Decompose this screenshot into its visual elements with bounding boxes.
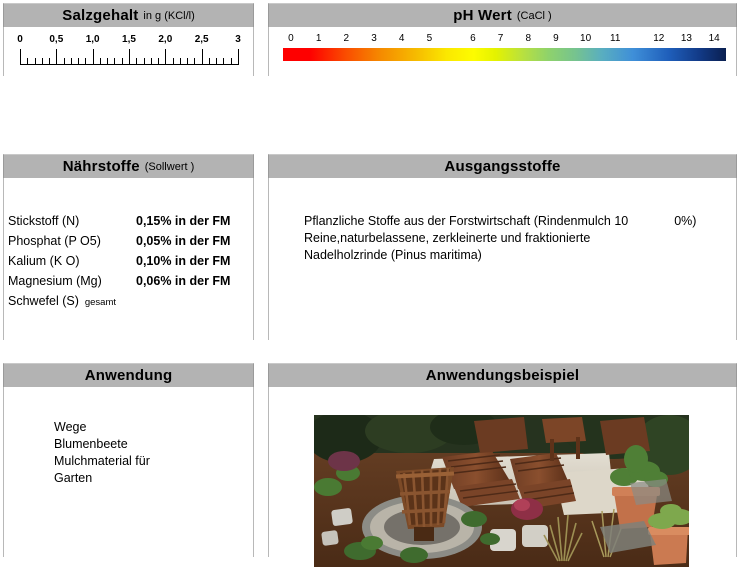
ph-tick-label-12: 12 — [653, 33, 664, 44]
salzgehalt-header: Salzgehalt in g (KCl/l) — [3, 3, 254, 27]
list-item: Blumenbeete — [54, 436, 150, 453]
ph-tick-label-9: 9 — [553, 33, 559, 44]
nutrient-value: 0,15% in der FM — [136, 214, 230, 228]
ph-tick-label-8: 8 — [525, 33, 531, 44]
salt-tick-label-6: 3 — [235, 34, 241, 45]
nutrient-name: Stickstoff (N) — [8, 214, 136, 228]
panel-salzgehalt: Salzgehalt in g (KCl/l) 0 0,5 1,0 1,5 2,… — [3, 3, 254, 76]
salt-minor-tick — [35, 58, 36, 65]
salt-minor-tick — [100, 58, 101, 65]
naehrstoffe-subtitle: (Sollwert ) — [145, 161, 195, 173]
nutrient-name: Kalium (K O) — [8, 254, 136, 268]
salzgehalt-body: 0 0,5 1,0 1,5 2,0 2,5 3 — [3, 27, 254, 76]
salt-major-tick — [165, 49, 166, 65]
salt-minor-tick — [209, 58, 210, 65]
nutrient-value: 0,10% in der FM — [136, 254, 230, 268]
salt-minor-tick — [85, 58, 86, 65]
ph-tick-label-4: 4 — [399, 33, 405, 44]
anwendungsbeispiel-header: Anwendungsbeispiel — [268, 363, 737, 387]
salt-minor-tick — [173, 58, 174, 65]
list-item: Mulchmaterial für — [54, 453, 150, 470]
salt-minor-tick — [158, 58, 159, 65]
ph-tick-label-13: 13 — [681, 33, 692, 44]
anwendung-header: Anwendung — [3, 363, 254, 387]
garden-example-photo — [314, 415, 689, 567]
salt-major-tick — [20, 49, 21, 65]
table-row: Schwefel (S)gesamt — [8, 294, 249, 314]
salt-major-tick — [129, 49, 130, 65]
nutrient-table: Stickstoff (N) 0,15% in der FM Phosphat … — [8, 214, 249, 314]
panel-ausgangsstoffe: Ausgangsstoffe Pflanzliche Stoffe aus de… — [268, 154, 737, 340]
salt-tick-label-1: 0,5 — [49, 34, 63, 45]
salt-minor-tick — [151, 58, 152, 65]
ph-tick-label-1: 1 — [316, 33, 322, 44]
salt-minor-tick — [187, 58, 188, 65]
ausgangsstoffe-body: Pflanzliche Stoffe aus der Forstwirtscha… — [268, 178, 737, 340]
ph-tick-label-0: 0 — [288, 33, 294, 44]
salt-minor-tick — [144, 58, 145, 65]
salt-major-tick — [202, 49, 203, 65]
ph-tick-label-5: 5 — [427, 33, 433, 44]
salt-minor-tick — [114, 58, 115, 65]
salt-tick-label-4: 2,0 — [158, 34, 172, 45]
anwendungsbeispiel-title: Anwendungsbeispiel — [426, 367, 580, 384]
salt-minor-tick — [216, 58, 217, 65]
ph-tick-label-2: 2 — [344, 33, 350, 44]
salt-ruler-scale — [20, 48, 238, 65]
salzgehalt-title: Salzgehalt — [62, 7, 138, 24]
anwendung-body: Wege Blumenbeete Mulchmaterial für Garte… — [3, 387, 254, 557]
panel-anwendungsbeispiel: Anwendungsbeispiel — [268, 363, 737, 557]
anwendungsbeispiel-body — [268, 387, 737, 557]
nutrient-name: Magnesium (Mg) — [8, 274, 136, 288]
ph-scale: 01234567891011121314 — [283, 33, 726, 61]
nutrient-name: Phosphat (P O5) — [8, 234, 136, 248]
ph-subtitle: (CaCl ) — [517, 10, 552, 22]
ph-tick-label-6: 6 — [470, 33, 476, 44]
ausgangsstoffe-line-1-main: Pflanzliche Stoffe aus der Forstwirtscha… — [304, 213, 628, 230]
anwendung-title: Anwendung — [85, 367, 173, 384]
ausgangsstoffe-title: Ausgangsstoffe — [444, 158, 560, 175]
naehrstoffe-title: Nährstoffe — [63, 158, 140, 175]
ausgangsstoffe-header: Ausgangsstoffe — [268, 154, 737, 178]
salt-tick-label-5: 2,5 — [195, 34, 209, 45]
nutrient-value: 0,05% in der FM — [136, 234, 230, 248]
salt-major-tick — [238, 49, 239, 65]
salt-minor-tick — [122, 58, 123, 65]
salt-minor-tick — [223, 58, 224, 65]
panel-ph-wert: pH Wert (CaCl ) 01234567891011121314 — [268, 3, 737, 76]
ausgangsstoffe-line-1-percent: 0%) — [674, 213, 696, 230]
ph-header: pH Wert (CaCl ) — [268, 3, 737, 27]
salzgehalt-subtitle: in g (KCl/l) — [143, 10, 194, 22]
list-item: Garten — [54, 470, 150, 487]
panel-naehrstoffe: Nährstoffe (Sollwert ) Stickstoff (N) 0,… — [3, 154, 254, 340]
ph-tick-label-10: 10 — [580, 33, 591, 44]
salt-minor-tick — [71, 58, 72, 65]
anwendung-list: Wege Blumenbeete Mulchmaterial für Garte… — [54, 419, 150, 487]
table-row: Kalium (K O) 0,10% in der FM — [8, 254, 249, 274]
ausgangsstoffe-line-2: Reine,naturbelassene, zerkleinerte und f… — [304, 230, 726, 247]
salt-minor-tick — [194, 58, 195, 65]
ph-tick-label-14: 14 — [709, 33, 720, 44]
garden-photo-illustration — [314, 415, 689, 567]
ph-body: 01234567891011121314 — [268, 27, 737, 76]
salt-minor-tick — [107, 58, 108, 65]
salt-major-tick — [93, 49, 94, 65]
ph-tick-label-7: 7 — [498, 33, 504, 44]
naehrstoffe-body: Stickstoff (N) 0,15% in der FM Phosphat … — [3, 178, 254, 340]
salt-minor-tick — [180, 58, 181, 65]
ausgangsstoffe-line-1: Pflanzliche Stoffe aus der Forstwirtscha… — [304, 213, 726, 230]
list-item: Wege — [54, 419, 150, 436]
salt-minor-tick — [27, 58, 28, 65]
ph-scale-labels: 01234567891011121314 — [283, 33, 726, 46]
table-row: Phosphat (P O5) 0,05% in der FM — [8, 234, 249, 254]
salt-ruler-labels: 0 0,5 1,0 1,5 2,0 2,5 3 — [20, 34, 238, 47]
nutrient-note: gesamt — [85, 297, 116, 308]
table-row: Stickstoff (N) 0,15% in der FM — [8, 214, 249, 234]
salt-minor-tick — [231, 58, 232, 65]
salt-ruler: 0 0,5 1,0 1,5 2,0 2,5 3 — [20, 34, 238, 65]
salt-tick-label-0: 0 — [17, 34, 23, 45]
panel-anwendung: Anwendung Wege Blumenbeete Mulchmaterial… — [3, 363, 254, 557]
salt-major-tick — [56, 49, 57, 65]
ph-tick-label-11: 11 — [610, 33, 620, 44]
salt-minor-tick — [64, 58, 65, 65]
salt-minor-tick — [49, 58, 50, 65]
nutrient-name: Schwefel (S)gesamt — [8, 294, 136, 308]
salt-minor-tick — [78, 58, 79, 65]
salt-tick-label-2: 1,0 — [86, 34, 100, 45]
ausgangsstoffe-line-3: Nadelholzrinde (Pinus maritima) — [304, 247, 726, 264]
salt-tick-label-3: 1,5 — [122, 34, 136, 45]
ph-title: pH Wert — [453, 7, 512, 24]
ph-tick-label-3: 3 — [371, 33, 377, 44]
salt-minor-tick — [42, 58, 43, 65]
nutrient-value: 0,06% in der FM — [136, 274, 230, 288]
naehrstoffe-header: Nährstoffe (Sollwert ) — [3, 154, 254, 178]
salt-minor-tick — [136, 58, 137, 65]
table-row: Magnesium (Mg) 0,06% in der FM — [8, 274, 249, 294]
ausgangsstoffe-text: Pflanzliche Stoffe aus der Forstwirtscha… — [304, 213, 726, 264]
ph-color-gradient-bar — [283, 48, 726, 61]
